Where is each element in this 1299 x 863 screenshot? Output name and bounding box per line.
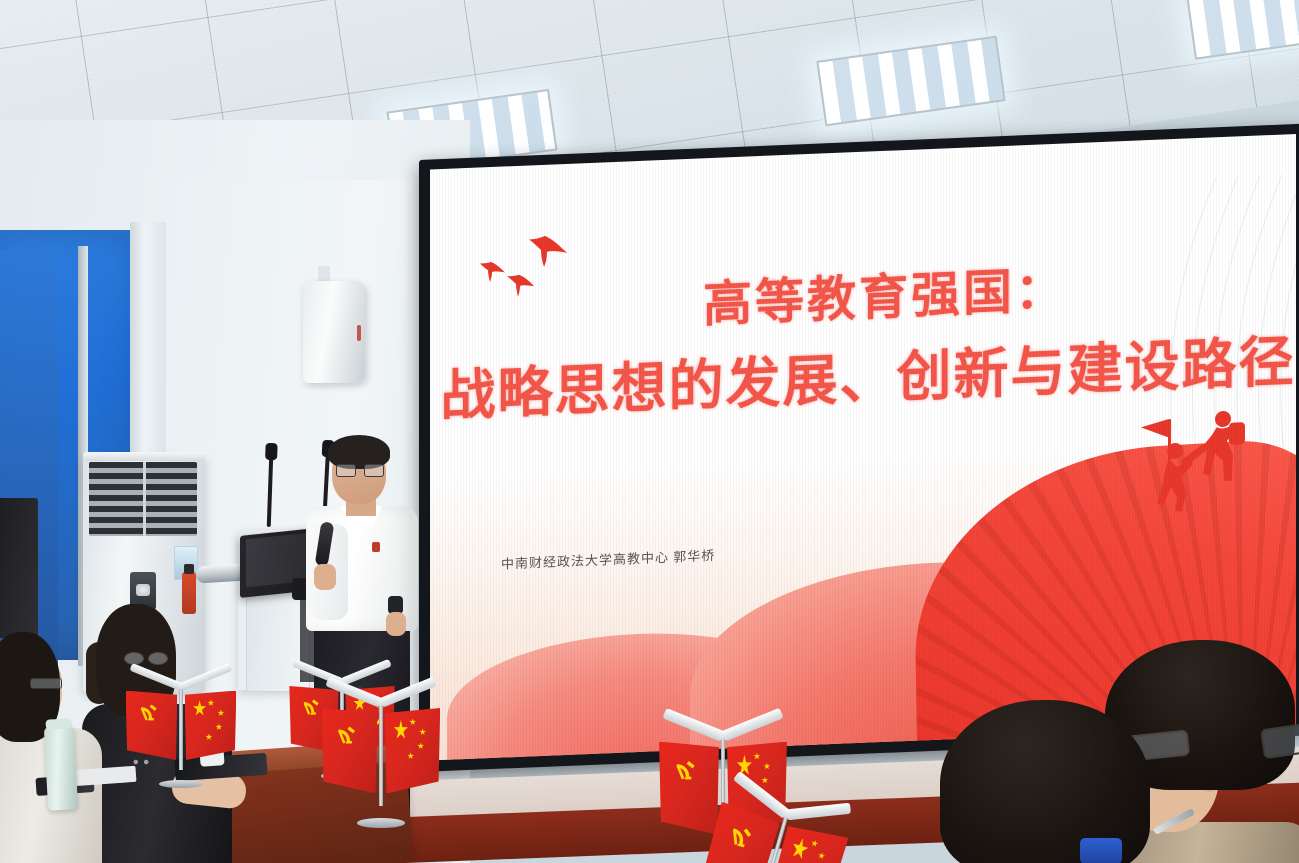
flag-base (159, 780, 204, 788)
cpc-party-flag (659, 742, 719, 835)
china-national-flag (185, 691, 237, 760)
five-star-icon (193, 700, 206, 717)
audience-glasses-far-right (1260, 723, 1299, 759)
flag-pole (379, 701, 383, 806)
presenter-badge (372, 542, 380, 552)
five-star-icon (394, 720, 408, 741)
small-stars (803, 837, 832, 863)
slide-byline: 中南财经政法大学高教中心 郭华桥 (501, 545, 715, 573)
audience-member-foreground-1 (940, 690, 1170, 863)
flag-set-left (122, 676, 240, 788)
small-stars (409, 716, 427, 750)
flag-base (357, 818, 405, 828)
blue-object (1080, 838, 1122, 863)
hammer-and-sickle-icon (672, 756, 700, 788)
presenter-glasses (336, 464, 384, 475)
hammer-and-sickle-icon (334, 722, 360, 751)
cpc-party-flag (322, 708, 377, 794)
hammer-and-sickle-icon (137, 702, 161, 726)
photo-scene: 高等教育强国： 战略思想的发展、创新与建设路径 中南财经政法大学高教中心 郭华桥 (0, 0, 1299, 863)
hammer-and-sickle-icon (722, 820, 758, 858)
cpc-party-flag (126, 691, 178, 760)
small-stars (207, 697, 224, 725)
presenter-hand-right (386, 612, 406, 636)
air-conditioner-top (83, 452, 205, 461)
small-stars (753, 751, 772, 788)
air-conditioner-grill (89, 462, 197, 536)
audience-glasses (30, 678, 62, 689)
audience-glasses (124, 652, 168, 663)
mountain-climbers-icon (1111, 395, 1261, 531)
flag-set-podium (318, 690, 444, 828)
thermos-bottle (44, 725, 78, 810)
side-monitor (0, 498, 38, 638)
wall-speaker-icon (303, 281, 365, 383)
presenter-hand (314, 564, 336, 590)
flag-pole (179, 685, 183, 770)
china-national-flag (385, 708, 440, 794)
flag-arm (786, 803, 851, 820)
